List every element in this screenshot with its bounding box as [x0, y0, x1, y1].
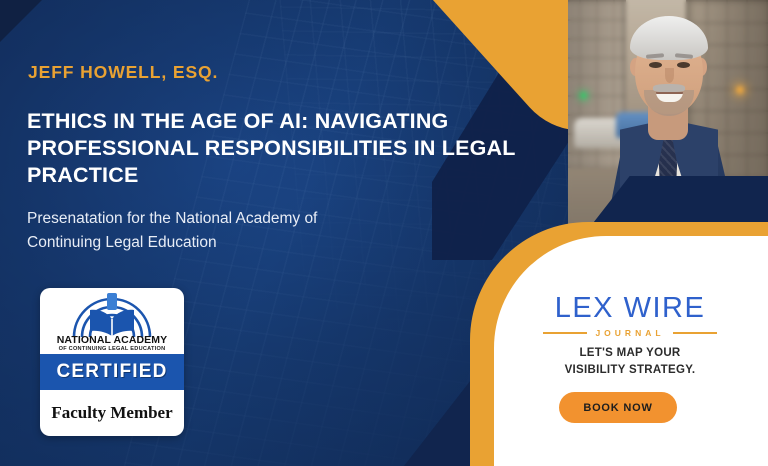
badge-status-band: CERTIFIED	[40, 354, 184, 390]
person-nose	[665, 68, 674, 83]
page-subtitle: Presenatation for the National Academy o…	[27, 207, 497, 255]
brand-tagline: LET'S MAP YOUR VISIBILITY STRATEGY.	[530, 345, 730, 378]
status-badge: CERTIFIED	[56, 361, 167, 383]
person-moustache	[653, 84, 685, 92]
lex-wire-logo: LEX WIRE JOURNAL	[530, 294, 730, 338]
open-book-with-rays-icon	[64, 291, 160, 337]
subtitle-line-2: Continuing Legal Education	[27, 231, 497, 255]
badge-header: NATIONAL ACADEMY OF CONTINUING LEGAL EDU…	[40, 288, 184, 354]
tagline-line-1: LET'S MAP YOUR	[530, 345, 730, 362]
lex-wire-subtitle-row: JOURNAL	[530, 328, 730, 338]
tagline-line-2: VISIBILITY STRATEGY.	[530, 362, 730, 379]
page-title: ETHICS IN THE AGE OF AI: NAVIGATING PROF…	[27, 108, 527, 189]
person-eye-right	[677, 62, 690, 68]
certification-badge: NATIONAL ACADEMY OF CONTINUING LEGAL EDU…	[40, 288, 184, 436]
lex-wire-journal-label: JOURNAL	[595, 328, 664, 338]
badge-role-label: Faculty Member	[51, 403, 172, 423]
badge-organization-subtitle: OF CONTINUING LEGAL EDUCATION	[59, 347, 166, 353]
book-now-button[interactable]: BOOK NOW	[559, 392, 677, 423]
badge-role-section: Faculty Member	[40, 390, 184, 436]
logo-rule-left	[543, 332, 587, 334]
presentation-banner: LEX WIRE JOURNAL LET'S MAP YOUR VISIBILI…	[0, 0, 768, 466]
lex-wire-wordmark: LEX WIRE	[530, 294, 730, 323]
person-eye-left	[649, 62, 662, 68]
logo-rule-right	[673, 332, 717, 334]
badge-organization-name: NATIONAL ACADEMY	[57, 335, 168, 346]
person-hair	[630, 16, 708, 60]
subtitle-line-1: Presenatation for the National Academy o…	[27, 207, 497, 231]
speaker-name: JEFF HOWELL, ESQ.	[28, 62, 218, 83]
